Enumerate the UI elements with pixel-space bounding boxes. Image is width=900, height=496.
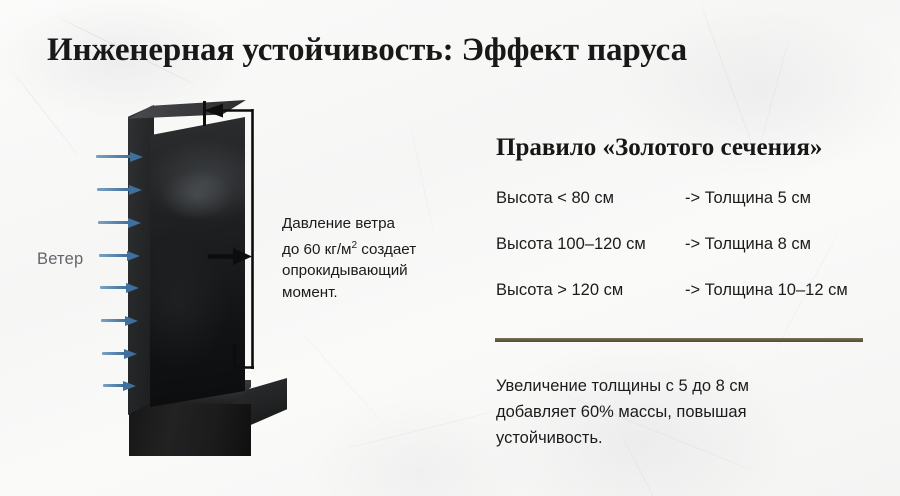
monument-illustration: Ветер Давление ветра до 60 кг/м2 создает…: [0, 0, 470, 496]
footnote-line-3: устойчивость.: [496, 429, 603, 447]
pressure-note-line-2a: до 60 кг/м: [282, 241, 352, 258]
pressure-note-line-3: опрокидывающий: [282, 262, 408, 279]
monument-base-front: [129, 404, 251, 456]
rule-result: -> Толщина 8 см: [685, 235, 811, 254]
rule-condition: Высота 100–120 см: [496, 235, 646, 254]
pressure-note-line-2b: создает: [357, 241, 416, 258]
rule-result: -> Толщина 5 см: [685, 189, 811, 208]
pressure-note-line-4: момент.: [282, 284, 338, 301]
rule-condition: Высота > 120 см: [496, 281, 623, 300]
pressure-note-line-1: Давление ветра: [282, 215, 395, 232]
footnote-line-2: добавляет 60% массы, повышая: [496, 403, 747, 421]
rule-result: -> Толщина 10–12 см: [685, 281, 848, 300]
slide-canvas: Инженерная устойчивость: Эффект паруса В…: [0, 0, 900, 496]
footnote-line-1: Увеличение толщины с 5 до 8 см: [496, 377, 749, 395]
panel-footnote: Увеличение толщины с 5 до 8 см добавляет…: [496, 373, 886, 451]
pressure-note: Давление ветра до 60 кг/м2 создает опрок…: [282, 213, 472, 303]
panel-divider: [495, 338, 863, 342]
rule-condition: Высота < 80 см: [496, 189, 614, 208]
monument-slab-front: [150, 117, 245, 407]
wind-label: Ветер: [37, 250, 83, 269]
golden-ratio-panel: Правило «Золотого сечения» Высота < 80 с…: [494, 0, 900, 496]
panel-heading: Правило «Золотого сечения»: [496, 134, 822, 162]
